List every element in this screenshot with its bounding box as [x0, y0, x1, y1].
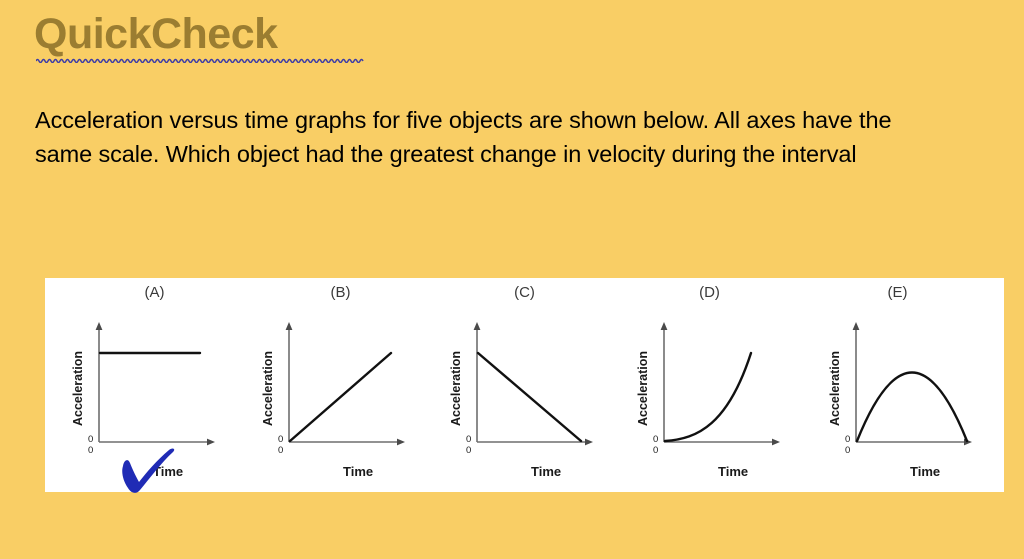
check-mark-annotation: [117, 448, 179, 500]
graph-option-b[interactable]: (B) Acceleration 0 0 Time: [235, 278, 426, 492]
graph-e-ytick-zero: 0: [845, 434, 850, 445]
graph-e-xlabel: Time: [910, 464, 940, 479]
graph-b-xtick-zero: 0: [278, 445, 283, 456]
graph-b-ytick-zero: 0: [278, 434, 283, 445]
graph-d-plot: Acceleration 0 0 Time: [620, 306, 800, 486]
graph-label-c: (C): [423, 284, 620, 301]
graph-option-c[interactable]: (C) Acceleration 0 0 Time: [423, 278, 614, 492]
graph-c-xtick-zero: 0: [466, 445, 471, 456]
graph-d-ytick-zero: 0: [653, 434, 658, 445]
graph-e-ylabel: Acceleration: [828, 351, 842, 426]
question-text: Acceleration versus time graphs for five…: [35, 103, 905, 171]
graph-c-plot: Acceleration 0 0 Time: [433, 306, 613, 486]
graph-option-e[interactable]: (E) Acceleration 0 0 Time: [802, 278, 993, 492]
graph-e-plot: Acceleration 0 0 Time: [812, 306, 992, 486]
graph-c-ylabel: Acceleration: [449, 351, 463, 426]
graph-d-ylabel: Acceleration: [636, 351, 650, 426]
graph-e-xtick-zero: 0: [845, 445, 850, 456]
graph-c-ytick-zero: 0: [466, 434, 471, 445]
figure-panel: (A) Acceleration 0 0 Time (B) Accelerati…: [45, 278, 1004, 492]
graph-b-plot: Acceleration 0 0 Time: [245, 306, 425, 486]
graph-b-ylabel: Acceleration: [261, 351, 275, 426]
graph-b-xlabel: Time: [343, 464, 373, 479]
page-title: QuickCheck: [34, 10, 278, 59]
graph-option-d[interactable]: (D) Acceleration 0 0 Time: [610, 278, 801, 492]
graph-d-xlabel: Time: [718, 464, 748, 479]
spellcheck-squiggle-underline: [36, 57, 364, 63]
graph-label-d: (D): [610, 284, 805, 301]
graph-c-xlabel: Time: [531, 464, 561, 479]
graph-a-ytick-zero: 0: [88, 434, 93, 445]
graph-label-a: (A): [45, 284, 250, 301]
graph-label-e: (E): [802, 284, 993, 301]
graph-d-xtick-zero: 0: [653, 445, 658, 456]
graph-a-ylabel: Acceleration: [71, 351, 85, 426]
graph-a-xtick-zero: 0: [88, 445, 93, 456]
graph-label-b: (B): [235, 284, 436, 301]
